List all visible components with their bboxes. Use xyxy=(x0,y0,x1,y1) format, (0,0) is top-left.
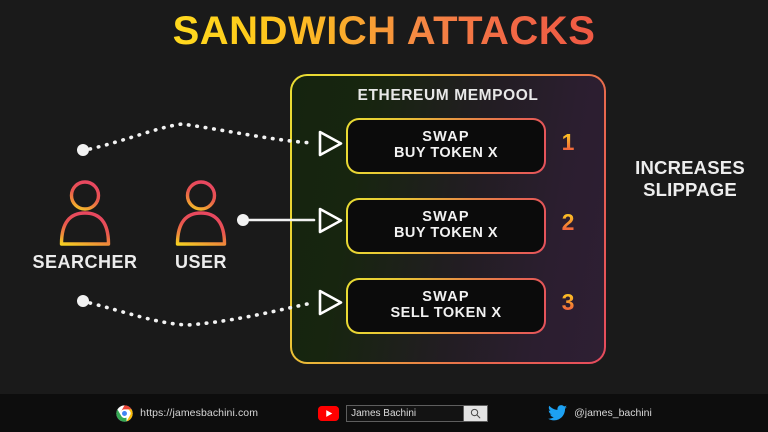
slippage-note: INCREASES SLIPPAGE xyxy=(614,157,766,201)
footer-twitter-handle: @james_bachini xyxy=(574,407,652,419)
step-number-2: 2 xyxy=(557,211,579,234)
transaction-card-inner: SWAP SELL TOKEN X xyxy=(348,280,544,332)
transaction-card-1[interactable]: SWAP BUY TOKEN X xyxy=(346,118,546,174)
slippage-note-line2: SLIPPAGE xyxy=(614,179,766,201)
person-icon xyxy=(56,178,114,246)
youtube-icon xyxy=(318,406,339,421)
chrome-icon xyxy=(116,405,133,422)
actor-label-user: USER xyxy=(141,252,261,273)
search-icon xyxy=(470,408,481,419)
step-number-3: 3 xyxy=(557,291,579,314)
slide-canvas: SANDWICH ATTACKS ETHEREUM MEMPOOL SWAP B… xyxy=(0,0,768,432)
youtube-search-box[interactable] xyxy=(346,405,488,422)
person-icon xyxy=(172,178,230,246)
twitter-icon xyxy=(548,405,567,421)
actor-label-searcher: SEARCHER xyxy=(25,252,145,273)
transaction-title: SWAP xyxy=(422,290,470,306)
transaction-card-inner: SWAP BUY TOKEN X xyxy=(348,120,544,172)
footer-youtube-block xyxy=(318,405,488,422)
transaction-card-3[interactable]: SWAP SELL TOKEN X xyxy=(346,278,546,334)
step-number-1: 1 xyxy=(557,131,579,154)
transaction-title: SWAP xyxy=(422,130,470,146)
transaction-card-inner: SWAP BUY TOKEN X xyxy=(348,200,544,252)
actor-searcher: SEARCHER xyxy=(25,178,145,273)
transaction-card-2[interactable]: SWAP BUY TOKEN X xyxy=(346,198,546,254)
transaction-title: SWAP xyxy=(422,210,470,226)
actor-user: USER xyxy=(141,178,261,273)
connector-origin-dot-searcher-bottom xyxy=(77,295,89,307)
transaction-detail: BUY TOKEN X xyxy=(394,146,498,162)
connector-line-searcher-to-tx3 xyxy=(90,303,312,325)
page-title: SANDWICH ATTACKS xyxy=(173,11,596,51)
youtube-search-input[interactable] xyxy=(347,406,463,421)
footer-chrome-link[interactable]: https://jamesbachini.com xyxy=(116,405,258,422)
footer-twitter-link[interactable]: @james_bachini xyxy=(548,405,652,421)
connector-line-searcher-to-tx1 xyxy=(90,124,312,149)
mempool-label: ETHEREUM MEMPOOL xyxy=(292,87,604,105)
youtube-search-button[interactable] xyxy=(463,406,487,421)
title-bar: SANDWICH ATTACKS xyxy=(0,0,768,62)
transaction-detail: BUY TOKEN X xyxy=(394,226,498,242)
connector-origin-dot-searcher-top xyxy=(77,144,89,156)
slippage-note-line1: INCREASES xyxy=(614,157,766,179)
transaction-detail: SELL TOKEN X xyxy=(390,306,501,322)
footer-bar: https://jamesbachini.com @ja xyxy=(0,394,768,432)
footer-chrome-url: https://jamesbachini.com xyxy=(140,407,258,419)
